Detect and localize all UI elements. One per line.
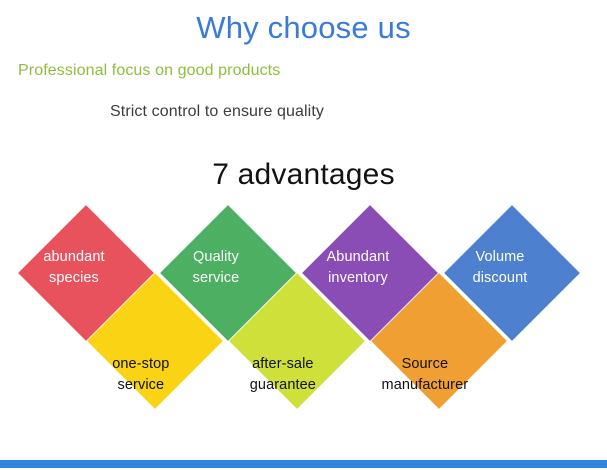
diamond-label-line1: after-sale — [252, 354, 313, 375]
diamond-label-line2: inventory — [328, 268, 388, 289]
diamond-label-line2: service — [193, 268, 240, 289]
diamond-label-line1: Source — [402, 354, 449, 375]
diamond-label-line2: service — [118, 375, 165, 396]
diamond-label-line1: Quality — [193, 247, 239, 268]
diamond-group: one-stopserviceafter-saleguaranteeSource… — [0, 0, 607, 470]
infographic-canvas: Why choose us Professional focus on good… — [0, 0, 607, 470]
diamond-label-line1: abundant — [43, 247, 104, 268]
diamond-label-line2: guarantee — [250, 375, 316, 396]
diamond-label-line2: manufacturer — [382, 375, 469, 396]
bottom-accent-bar — [0, 460, 607, 468]
diamond-label-line1: Volume — [475, 247, 524, 268]
diamond-label-line2: species — [49, 268, 99, 289]
diamond-label-line1: one-stop — [112, 354, 169, 375]
diamond-label-line2: discount — [473, 268, 528, 289]
diamond-label-line1: Abundant — [327, 247, 390, 268]
